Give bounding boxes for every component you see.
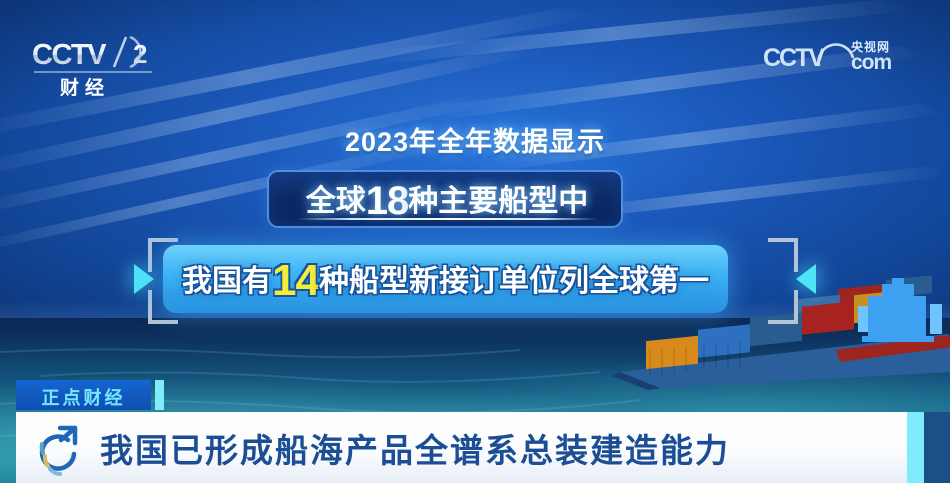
stat-box-global-ship-types: 全球18种主要船型中	[267, 170, 623, 228]
arrow-right-icon	[796, 264, 816, 294]
stat-box-2-suffix: 种船型新接订单位列全球第一	[319, 265, 709, 298]
svg-text:2: 2	[133, 39, 147, 69]
stat-box-2-number: 14	[272, 256, 319, 305]
svg-text:com: com	[851, 51, 892, 72]
stat-box-1-suffix: 种主要船型中	[408, 185, 588, 218]
bracket-top-right	[768, 238, 798, 272]
broadcast-screenshot: CCTV 2 财经 CCTV 央视网 com 2023年全年数据显示 全球18种…	[0, 0, 950, 483]
stat-box-2-prefix: 我国有	[182, 265, 272, 298]
stat-box-1-number: 18	[366, 179, 409, 223]
svg-text:CCTV: CCTV	[32, 39, 107, 71]
headline-text: 我国已形成船海产品全谱系总装建造能力	[100, 424, 890, 472]
program-tag-accent-bar	[155, 380, 164, 410]
cctv2-logo: CCTV 2 财经	[30, 34, 170, 96]
program-tag-label: 正点财经	[16, 384, 151, 410]
svg-text:财经: 财经	[60, 76, 110, 96]
bracket-bottom-right	[768, 290, 798, 324]
swirl-arrow-icon	[30, 420, 88, 478]
stat-box-1-prefix: 全球	[306, 185, 366, 218]
stat-box-1-text: 全球18种主要船型中	[269, 176, 625, 220]
banner-cyan-accent	[907, 412, 924, 483]
stat-box-2-text: 我国有14种船型新接订单位列全球第一	[163, 256, 728, 300]
stat-box-china-ship-types: 我国有14种船型新接订单位列全球第一	[163, 245, 728, 313]
arrow-left-icon	[134, 264, 154, 294]
banner-navy-endcap	[924, 412, 950, 483]
kicker-text: 2023年全年数据显示	[0, 120, 950, 159]
stat-box-1-underline	[297, 218, 597, 220]
program-tag: 正点财经	[16, 380, 151, 410]
svg-text:CCTV: CCTV	[763, 44, 825, 72]
cctv-com-logo: CCTV 央视网 com	[763, 36, 931, 72]
